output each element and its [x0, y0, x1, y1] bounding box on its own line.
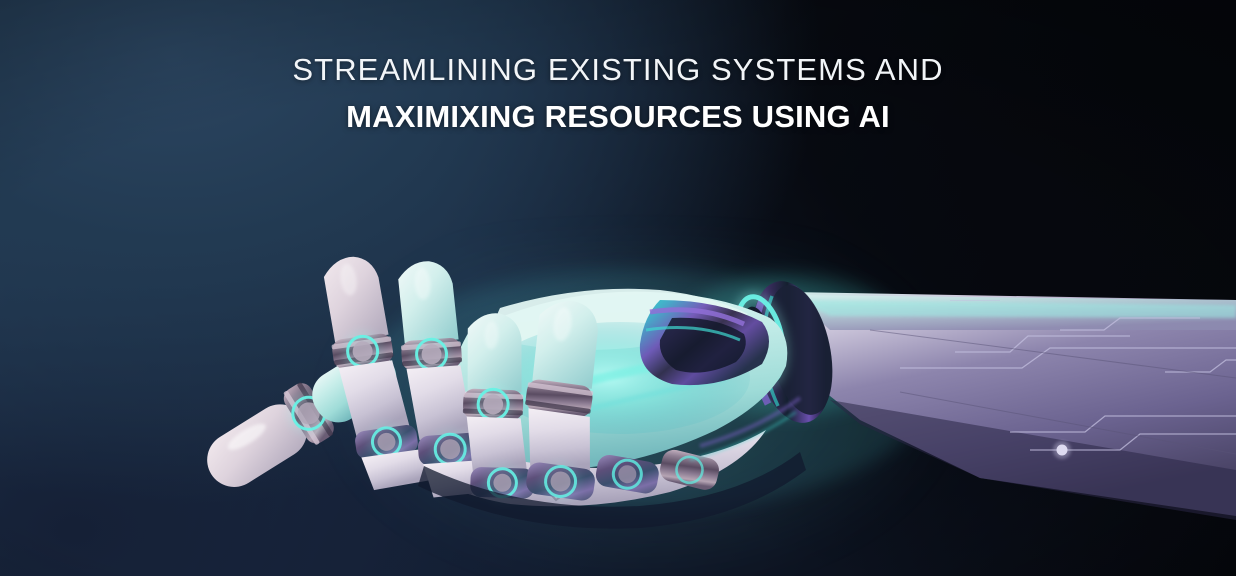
ai-banner: STREAMLINING EXISTING SYSTEMS AND MAXIMI… — [0, 0, 1236, 576]
ring-joint-ring — [463, 388, 524, 420]
circuit-node-glow — [1053, 441, 1071, 459]
forearm — [790, 292, 1236, 520]
index-tip — [322, 253, 389, 342]
title-line-2: MAXIMIXING RESOURCES USING AI — [0, 96, 1236, 138]
ring-middle — [465, 417, 529, 473]
middle-tip — [397, 259, 458, 343]
banner-title: STREAMLINING EXISTING SYSTEMS AND MAXIMI… — [0, 50, 1236, 138]
title-line-1: STREAMLINING EXISTING SYSTEMS AND — [0, 50, 1236, 90]
